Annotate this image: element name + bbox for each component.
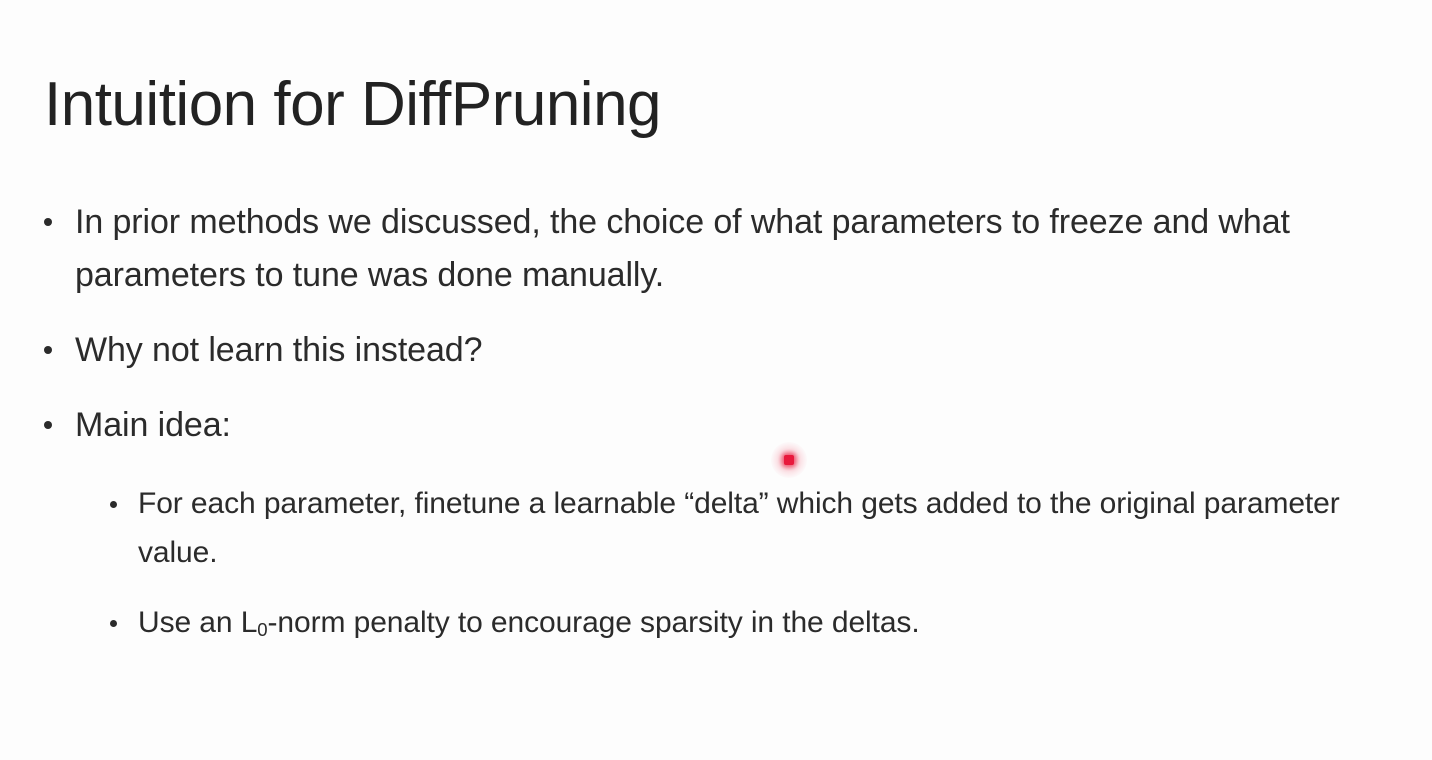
sub-bullet-item: For each parameter, finetune a learnable… — [0, 480, 1432, 577]
slide-body: In prior methods we discussed, the choic… — [0, 196, 1432, 648]
sub-bullet-text-prefix: Use an L — [138, 606, 257, 639]
sub-bullet-text-suffix: -norm penalty to encourage sparsity in t… — [268, 606, 920, 639]
bullet-item: Why not learn this instead? — [0, 324, 1432, 377]
bullet-item: In prior methods we discussed, the choic… — [0, 196, 1432, 302]
norm-subscript: 0 — [257, 619, 267, 640]
sub-bullet-text: For each parameter, finetune a learnable… — [138, 487, 1340, 569]
bullet-dot-icon — [110, 501, 117, 508]
bullet-dot-icon — [110, 620, 117, 627]
bullet-text: Main idea: — [75, 406, 231, 444]
bullet-dot-icon — [44, 346, 52, 354]
sub-bullet-list: For each parameter, finetune a learnable… — [0, 480, 1432, 648]
slide-title: Intuition for DiffPruning — [44, 70, 661, 139]
bullet-dot-icon — [44, 218, 52, 226]
bullet-text: In prior methods we discussed, the choic… — [75, 203, 1290, 294]
bullet-text: Why not learn this instead? — [75, 331, 482, 369]
bullet-item: Main idea: — [0, 399, 1432, 452]
presentation-slide: Intuition for DiffPruning In prior metho… — [0, 0, 1432, 760]
sub-bullet-item: Use an L0-norm penalty to encourage spar… — [0, 599, 1432, 648]
bullet-dot-icon — [44, 421, 52, 429]
